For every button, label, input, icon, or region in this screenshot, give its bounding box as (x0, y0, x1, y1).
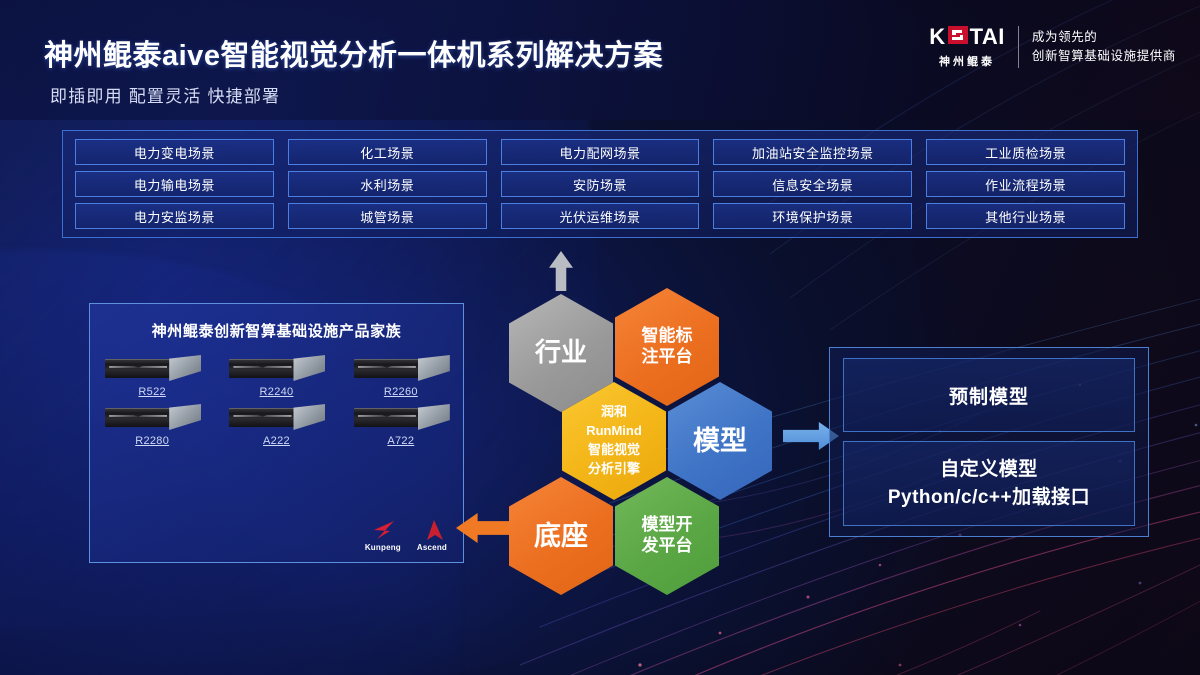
product-family-panel: 神州鲲泰创新智算基础设施产品家族 R522R2240R2260R2280A222… (89, 303, 464, 563)
product-model-label[interactable]: R522 (138, 386, 166, 398)
hex-industry-label: 行业 (535, 337, 587, 369)
server-side (293, 355, 325, 381)
scenario-cell[interactable]: 化工场景 (288, 139, 487, 165)
product-model-label[interactable]: R2280 (135, 435, 169, 447)
hex-dev-line1: 模型开 (642, 515, 693, 534)
scenario-cell[interactable]: 水利场景 (288, 171, 487, 197)
kuntai-mark-icon (947, 25, 969, 49)
custom-model-label: 自定义模型 Python/c/c++加载接口 (888, 456, 1090, 511)
custom-model-line2: Python/c/c++加载接口 (888, 487, 1090, 508)
kunpeng-logo-icon (370, 519, 396, 541)
server-icon (354, 404, 448, 430)
product-item[interactable]: A222 (214, 404, 338, 447)
page-title: 神州鲲泰aive智能视觉分析一体机系列解决方案 (44, 32, 663, 74)
server-front (229, 359, 295, 378)
brand-name-cn: 神州鲲泰 (939, 53, 995, 69)
scenario-cell[interactable]: 城管场景 (288, 203, 487, 229)
hex-annotation-line1: 智能标 (642, 326, 693, 345)
hex-model-label: 模型 (693, 425, 747, 458)
scenario-cell[interactable]: 电力输电场景 (75, 171, 274, 197)
brand-wordmark: K TAI (929, 25, 1005, 49)
custom-model-box[interactable]: 自定义模型 Python/c/c++加载接口 (843, 441, 1135, 526)
product-model-label[interactable]: A722 (387, 435, 414, 447)
chip-logo-label: Ascend (417, 543, 447, 552)
brand-tagline-line1: 成为领先的 (1032, 28, 1176, 47)
model-panel: 预制模型 自定义模型 Python/c/c++加载接口 (829, 347, 1149, 537)
product-family-title: 神州鲲泰创新智算基础设施产品家族 (90, 320, 463, 341)
hex-annotation-platform-label: 智能标 注平台 (642, 326, 693, 367)
brand-tagline: 成为领先的 创新智算基础设施提供商 (1032, 28, 1176, 67)
brand-logo: K TAI 神州鲲泰 成为领先的 创新智算基础设施提供商 (929, 25, 1176, 69)
scenario-cell[interactable]: 作业流程场景 (926, 171, 1125, 197)
hex-annotation-line2: 注平台 (642, 347, 693, 366)
scenario-cell[interactable]: 安防场景 (501, 171, 700, 197)
scenario-cell[interactable]: 电力安监场景 (75, 203, 274, 229)
server-front (105, 359, 171, 378)
scenario-cell[interactable]: 加油站安全监控场景 (713, 139, 912, 165)
server-side (418, 404, 450, 430)
hex-base-label: 底座 (534, 520, 588, 553)
product-item[interactable]: R2240 (214, 355, 338, 398)
scenario-grid: 电力变电场景化工场景电力配网场景加油站安全监控场景工业质检场景电力输电场景水利场… (62, 130, 1138, 238)
product-model-label[interactable]: A222 (263, 435, 290, 447)
preset-model-label: 预制模型 (949, 382, 1029, 409)
hex-dev-line2: 发平台 (642, 536, 693, 555)
server-icon (229, 404, 323, 430)
slide-canvas: 神州鲲泰aive智能视觉分析一体机系列解决方案 即插即用 配置灵活 快捷部署 K… (0, 0, 1200, 675)
scenario-cell[interactable]: 电力配网场景 (501, 139, 700, 165)
hex-engine-line3: 智能视觉 (588, 442, 640, 457)
scenario-cell[interactable]: 工业质检场景 (926, 139, 1125, 165)
server-side (418, 355, 450, 381)
product-model-label[interactable]: R2240 (260, 386, 294, 398)
brand-wordmark-k: K (929, 26, 945, 48)
server-icon (105, 404, 199, 430)
brand-tagline-line2: 创新智算基础设施提供商 (1032, 47, 1176, 66)
server-side (293, 404, 325, 430)
chip-logo-ascend: Ascend (417, 519, 447, 552)
scenario-cell[interactable]: 其他行业场景 (926, 203, 1125, 229)
chip-logo-kunpeng: Kunpeng (365, 519, 401, 552)
server-front (354, 408, 420, 427)
hex-engine-line4: 分析引擎 (588, 461, 640, 476)
hex-runmind-engine-label: 润和 RunMind 智能视觉 分析引擎 (586, 403, 642, 478)
brand-logo-left: K TAI 神州鲲泰 (929, 25, 1005, 69)
chip-logo-label: Kunpeng (365, 543, 401, 552)
hex-engine-line2: RunMind (586, 423, 642, 438)
server-icon (354, 355, 448, 381)
server-icon (105, 355, 199, 381)
hex-model-dev-label: 模型开 发平台 (642, 515, 693, 556)
page-subtitle: 即插即用 配置灵活 快捷部署 (50, 82, 280, 107)
product-model-label[interactable]: R2260 (384, 386, 418, 398)
preset-model-box[interactable]: 预制模型 (843, 358, 1135, 432)
server-icon (229, 355, 323, 381)
product-item[interactable]: R2260 (339, 355, 463, 398)
server-front (105, 408, 171, 427)
scenario-cell[interactable]: 光伏运维场景 (501, 203, 700, 229)
scenario-cell[interactable]: 环境保护场景 (713, 203, 912, 229)
server-front (229, 408, 295, 427)
brand-divider (1018, 26, 1019, 68)
product-item[interactable]: R522 (90, 355, 214, 398)
custom-model-line1: 自定义模型 (940, 459, 1038, 480)
brand-wordmark-tai: TAI (970, 26, 1005, 48)
chip-logo-group: KunpengAscend (365, 519, 447, 552)
ascend-logo-icon (419, 519, 445, 541)
server-front (354, 359, 420, 378)
product-item[interactable]: A722 (339, 404, 463, 447)
hex-engine-line1: 润和 (601, 404, 627, 419)
scenario-cell[interactable]: 电力变电场景 (75, 139, 274, 165)
product-grid: R522R2240R2260R2280A222A722 (90, 355, 463, 447)
product-item[interactable]: R2280 (90, 404, 214, 447)
server-side (169, 355, 201, 381)
server-side (169, 404, 201, 430)
scenario-cell[interactable]: 信息安全场景 (713, 171, 912, 197)
